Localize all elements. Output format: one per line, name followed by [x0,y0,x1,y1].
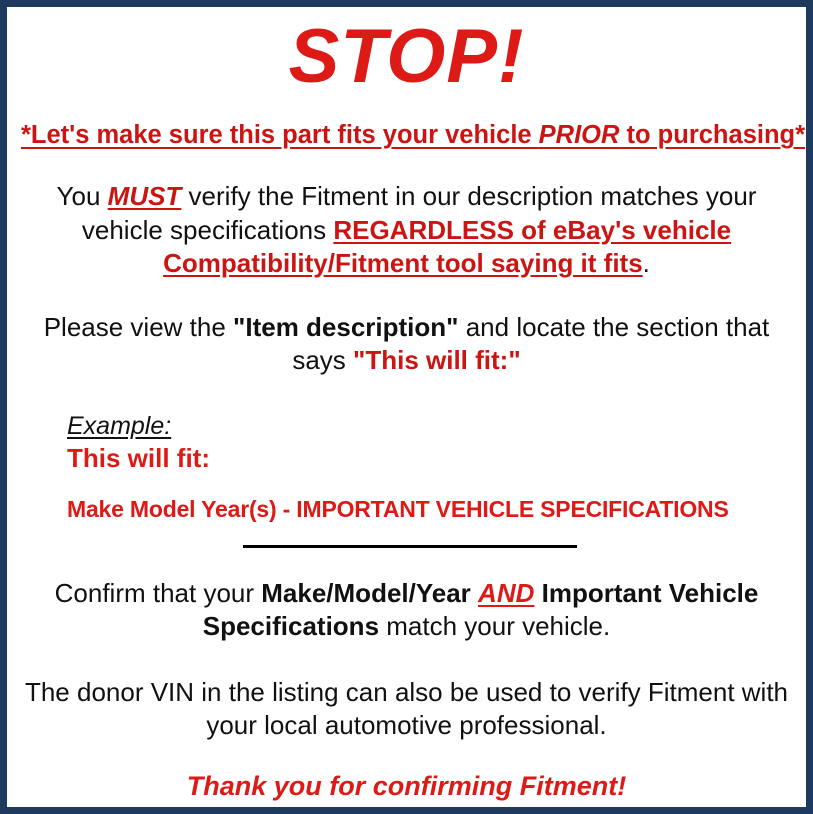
notice-content: STOP! *Let's make sure this part fits yo… [7,7,806,807]
must-verify-paragraph: You MUST verify the Fitment in our descr… [21,150,792,280]
subtitle-banner: *Let's make sure this part fits your veh… [21,95,792,150]
example-spec-line: Make Model Year(s) - IMPORTANT VEHICLE S… [67,474,792,523]
example-fit-header: This will fit: [67,441,792,474]
confirm-seg-7: match your vehicle. [379,611,610,641]
this-will-fit-quote: "This will fit:" [353,345,521,375]
fitment-notice-card: STOP! *Let's make sure this part fits yo… [0,0,813,814]
confirm-seg-3 [471,578,478,608]
make-model-year-emphasis: Make/Model/Year [261,578,471,608]
example-label-row: Example: [67,412,792,441]
and-emphasis: AND [478,578,534,608]
example-label: Example: [67,412,171,441]
confirm-paragraph: Confirm that your Make/Model/Year AND Im… [21,548,792,644]
desc-seg-1: Please view the [44,312,233,342]
example-block: Example: This will fit: Make Model Year(… [21,378,792,523]
must-emphasis: MUST [108,181,182,211]
thank-you-line: Thank you for confirming Fitment! [21,743,792,802]
must-seg-5: . [643,248,650,278]
subtitle-before: *Let's make sure this part fits your veh… [21,121,539,149]
confirm-seg-1: Confirm that your [55,578,262,608]
subtitle-emphasis-prior: PRIOR [539,121,620,149]
item-description-paragraph: Please view the "Item description" and l… [21,280,792,378]
must-seg-1: You [57,181,108,211]
divider-wrapper [21,523,792,548]
vin-paragraph: The donor VIN in the listing can also be… [21,643,792,743]
confirm-seg-5 [534,578,541,608]
item-description-label: "Item description" [233,312,458,342]
stop-title: STOP! [21,7,792,95]
subtitle-after: to purchasing* [619,121,805,149]
